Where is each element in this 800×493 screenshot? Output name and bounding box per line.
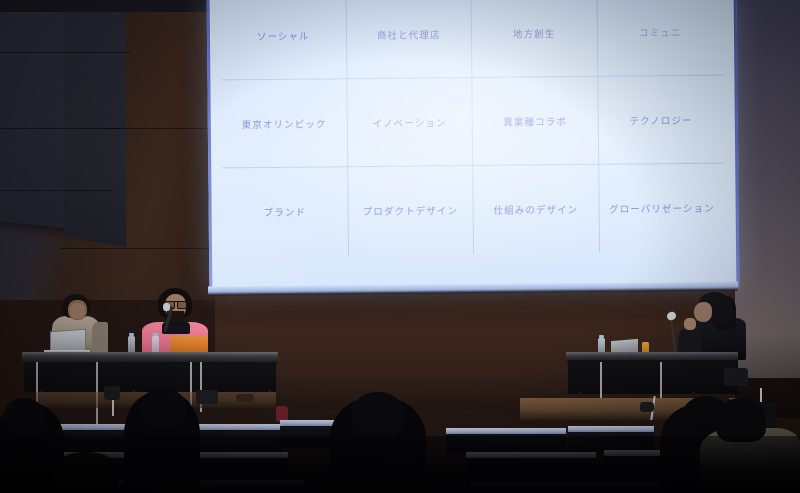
microphone-joint xyxy=(640,402,654,412)
slide-cell-label: プロダクトデザイン xyxy=(363,203,459,218)
audience-head xyxy=(140,388,186,428)
slide-cell-r2c3: 異業種コラボ xyxy=(472,77,598,166)
bottle-cap xyxy=(153,333,158,336)
slide-cell-label: 異業種コラボ xyxy=(503,114,567,129)
camera-rig xyxy=(104,386,120,400)
slide-cell-label: 地方創生 xyxy=(513,26,556,40)
left-wall xyxy=(0,0,215,300)
foreground-shadow xyxy=(0,436,800,493)
audience-head xyxy=(4,398,44,432)
wall-seam xyxy=(0,52,130,53)
slide-cell-r3c4: グローバリゼーション xyxy=(599,164,725,253)
slide-cell-label: 商社と代理店 xyxy=(377,27,441,42)
slide-cell-r3c3: 仕組みのデザイン xyxy=(473,165,599,254)
equipment-box xyxy=(236,394,254,402)
wall-seam xyxy=(60,248,210,249)
slide-cell-label: ブランド xyxy=(264,205,307,219)
audience-head xyxy=(352,392,404,436)
slide-cell-label: イノベーション xyxy=(372,115,446,130)
right-speaker-table-front xyxy=(568,360,738,394)
slide-cell-label: テクノロジー xyxy=(629,112,692,127)
left-wall-top-shadow xyxy=(0,0,215,12)
face-highlight xyxy=(70,303,85,319)
slide-cell-label: ソーシャル xyxy=(257,28,310,43)
left-wall-angled-panel-2 xyxy=(64,0,126,247)
slide-cell-r2c4: テクノロジー xyxy=(598,76,724,165)
bottle-cap xyxy=(129,333,134,336)
slide-cell-label: グローバリゼーション xyxy=(609,201,715,216)
slide-cell-r1c3: 地方創生 xyxy=(472,0,598,78)
wall-seam xyxy=(0,190,112,191)
slide-cell-r3c1: ブランド xyxy=(222,167,348,256)
arm xyxy=(92,322,108,354)
projection-screen: ソーシャル 商社と代理店 地方創生 コミュニ 東京オリンピック イノベーション … xyxy=(207,0,740,293)
screenshot-root: ソーシャル 商社と代理店 地方創生 コミュニ 東京オリンピック イノベーション … xyxy=(0,0,800,493)
slide-cell-label: コミュニ xyxy=(639,24,682,38)
equipment-box xyxy=(196,390,218,404)
wall-seam xyxy=(104,128,210,129)
slide-cell-r2c1: 東京オリンピック xyxy=(221,79,347,168)
slide-cell-r1c1: ソーシャル xyxy=(221,0,347,80)
chair-back xyxy=(724,368,748,386)
left-speaker-table-front xyxy=(24,362,276,392)
slide-cell-r1c4: コミュニ xyxy=(597,0,723,77)
bottle-cap xyxy=(599,335,604,338)
wall-seam xyxy=(0,128,120,129)
hand-on-chin xyxy=(684,318,696,330)
slide-cell-label: 仕組みのデザイン xyxy=(493,202,578,217)
slide-grid: ソーシャル 商社と代理店 地方創生 コミュニ 東京オリンピック イノベーション … xyxy=(221,0,726,256)
slide-cell-label: 東京オリンピック xyxy=(242,116,327,131)
slide-cell-r3c2: プロダクトデザイン xyxy=(348,166,474,255)
handheld-microphone-head xyxy=(163,303,170,311)
slide-cell-r1c2: 商社と代理店 xyxy=(346,0,472,79)
slide-cell-r2c2: イノベーション xyxy=(347,78,473,167)
face-profile xyxy=(694,302,712,322)
